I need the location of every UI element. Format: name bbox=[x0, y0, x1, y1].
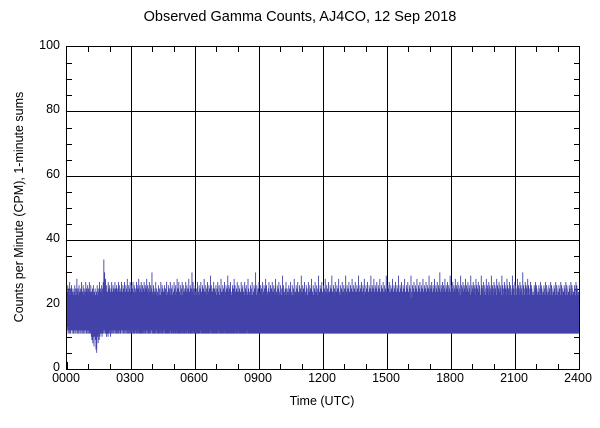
x-tick-label: 1200 bbox=[287, 371, 357, 385]
x-axis-label: Time (UTC) bbox=[66, 394, 578, 408]
x-tick-label: 2100 bbox=[479, 371, 549, 385]
x-axis-tick-labels: 000003000600090012001500180021002400 bbox=[0, 0, 600, 428]
x-tick-label: 2400 bbox=[543, 371, 600, 385]
x-tick-label: 1800 bbox=[415, 371, 485, 385]
y-axis-label: Counts per Minute (CPM), 1-minute sums bbox=[11, 46, 27, 368]
x-tick-label: 0600 bbox=[159, 371, 229, 385]
gamma-counts-figure: Observed Gamma Counts, AJ4CO, 12 Sep 201… bbox=[0, 0, 600, 428]
x-tick-label: 0900 bbox=[223, 371, 293, 385]
x-tick-label: 1500 bbox=[351, 371, 421, 385]
x-tick-label: 0300 bbox=[95, 371, 165, 385]
x-tick-label: 0000 bbox=[31, 371, 101, 385]
